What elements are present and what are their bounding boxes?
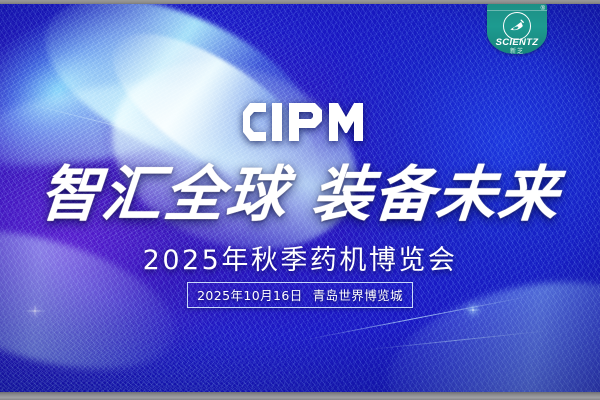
cipm-logo (0, 101, 600, 148)
bottom-status-strip (0, 392, 600, 400)
event-date: 2025年10月16日 (197, 288, 303, 303)
banner-content: 智汇全球装备未来 2025年秋季药机博览会 2025年10月16日青岛世界博览城 (0, 0, 600, 400)
date-venue-bar: 2025年10月16日青岛世界博览城 (187, 282, 413, 308)
registered-trademark-icon: ® (541, 6, 545, 12)
date-venue-container: 2025年10月16日青岛世界博览城 (0, 282, 600, 308)
event-venue: 青岛世界博览城 (313, 288, 403, 303)
cipm-expo-banner: 智汇全球装备未来 2025年秋季药机博览会 2025年10月16日青岛世界博览城… (0, 0, 600, 400)
event-slogan: 智汇全球装备未来 (0, 158, 600, 232)
slogan-part-2: 装备未来 (309, 160, 563, 230)
scientz-sub-wordmark: 新芝 (487, 46, 547, 54)
scientz-shield-icon: ® SCIENTZ 新芝 (487, 4, 547, 54)
slogan-part-1: 智汇全球 (37, 160, 291, 230)
event-subtitle: 2025年秋季药机博览会 (0, 238, 600, 277)
scientz-emblem-icon (503, 12, 531, 40)
top-toolbar-strip (0, 0, 600, 4)
scientz-logo-badge[interactable]: ® SCIENTZ 新芝 (487, 4, 547, 54)
cipm-wordmark-icon (235, 101, 365, 143)
